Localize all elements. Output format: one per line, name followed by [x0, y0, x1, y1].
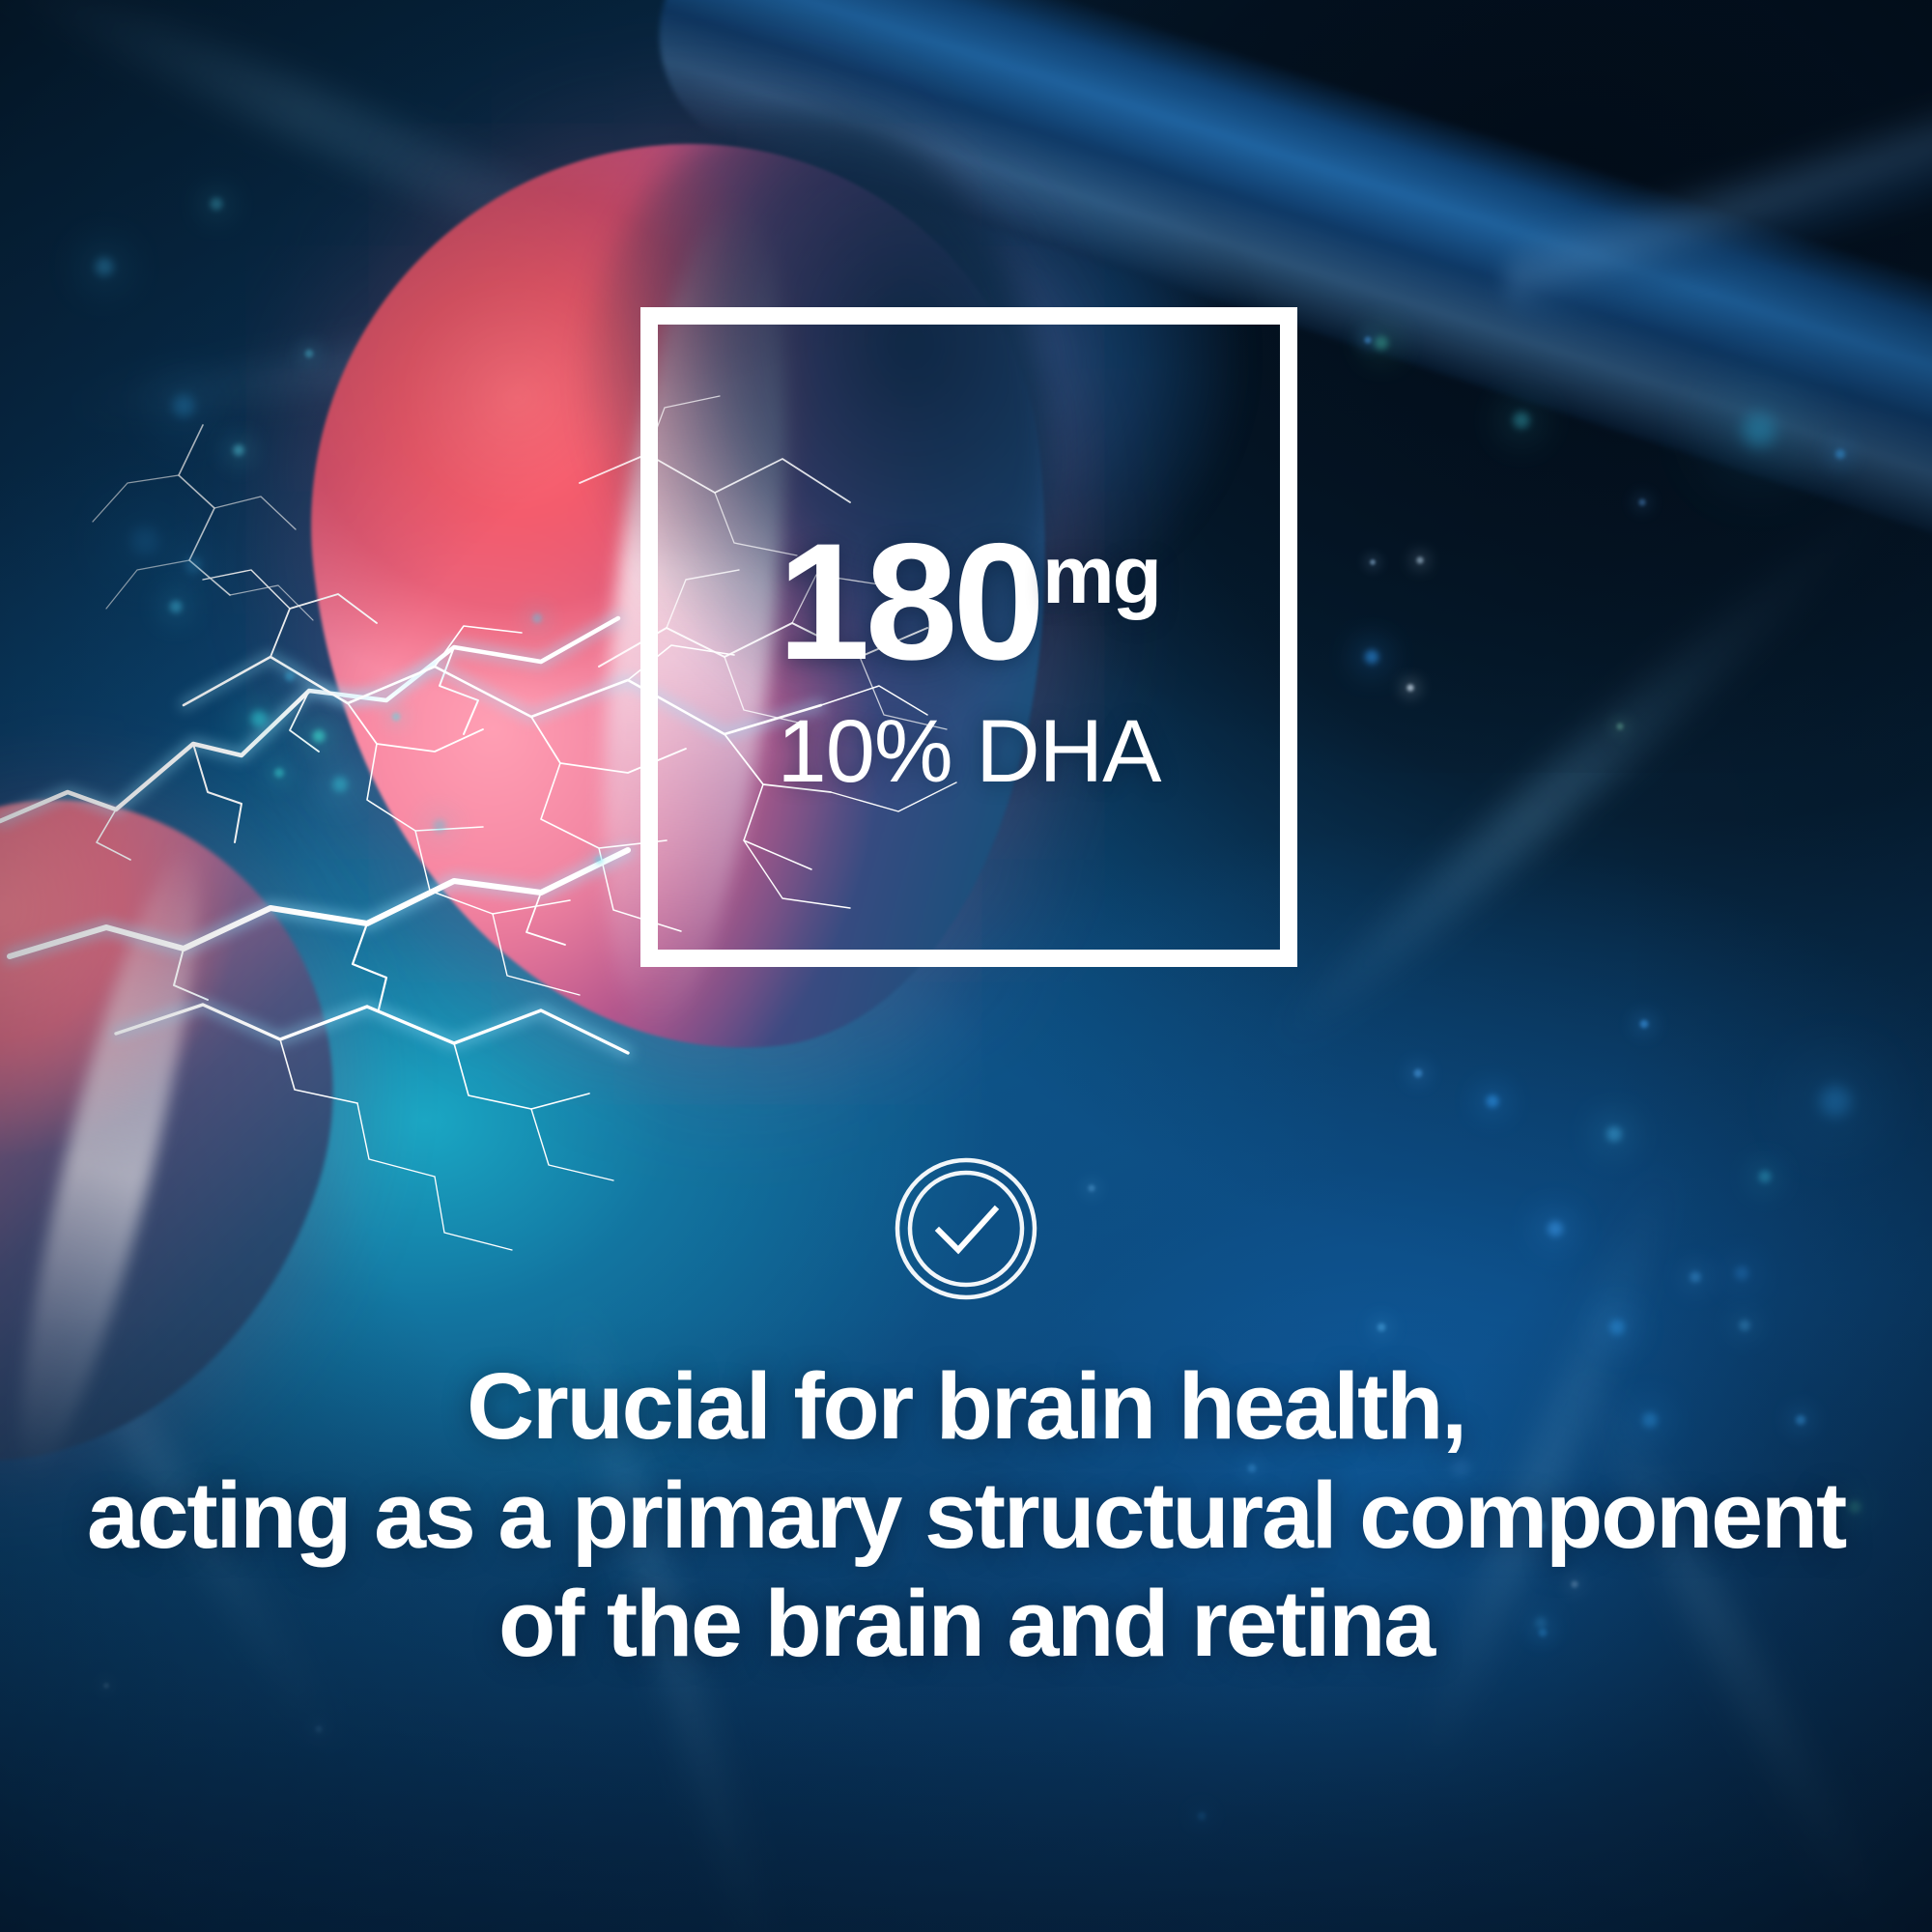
dose-value: 180: [778, 527, 1040, 677]
dose-callout: 180 mg 10% DHA: [640, 307, 1297, 967]
headline: Crucial for brain health, acting as a pr…: [0, 1352, 1932, 1679]
headline-line-1: Crucial for brain health,: [0, 1352, 1932, 1462]
check-circle-icon: [893, 1155, 1039, 1302]
headline-line-2: acting as a primary structural component: [0, 1462, 1932, 1571]
dose-value-row: 180 mg: [778, 527, 1160, 677]
dose-unit: mg: [1042, 539, 1160, 612]
promo-graphic-canvas: 180 mg 10% DHA Crucial for brain health,…: [0, 0, 1932, 1932]
dose-subtitle: 10% DHA: [778, 701, 1161, 803]
headline-line-3: of the brain and retina: [0, 1570, 1932, 1679]
